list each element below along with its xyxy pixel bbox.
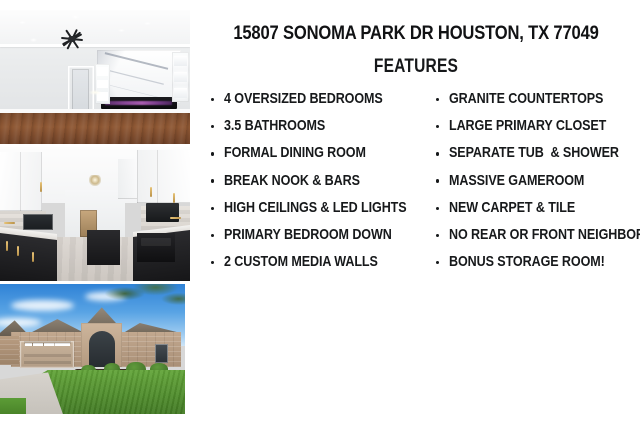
list-item: SEPARATE TUB & SHOWER (431, 140, 640, 167)
feature-label: SEPARATE TUB & SHOWER (449, 140, 619, 167)
cabinet-handle-icon (173, 193, 175, 203)
feature-label: BONUS STORAGE ROOM! (449, 249, 605, 276)
list-item: LARGE PRIMARY CLOSET (431, 113, 640, 140)
list-item: NO REAR OR FRONT NEIGHBORS (431, 222, 640, 249)
cloud (0, 318, 41, 327)
living-room-scene (0, 10, 190, 144)
pendant-light (89, 175, 101, 186)
range-oven (137, 233, 175, 262)
features-heading: FEATURES (232, 56, 599, 78)
recessed-light (144, 22, 151, 25)
list-item: MASSIVE GAMEROOM (431, 168, 640, 195)
feature-label: NEW CARPET & TILE (449, 195, 575, 222)
kitchen-scene (0, 147, 190, 281)
exterior-scene (0, 284, 185, 414)
list-item: 4 OVERSIZED BEDROOMS (206, 86, 419, 113)
front-window (155, 344, 168, 364)
feature-label: FORMAL DINING ROOM (224, 140, 366, 167)
exterior-front-photo[interactable] (0, 284, 185, 414)
front-door (89, 331, 115, 367)
linear-fireplace (101, 97, 177, 109)
recessed-light (19, 21, 26, 24)
feature-label: BREAK NOOK & BARS (224, 168, 360, 195)
list-item: BREAK NOOK & BARS (206, 168, 419, 195)
feature-label: 2 CUSTOM MEDIA WALLS (224, 249, 378, 276)
list-item: FORMAL DINING ROOM (206, 140, 419, 167)
upper-cabinet-right-2 (118, 159, 137, 199)
interior-door (72, 69, 89, 113)
list-item: 3.5 BATHROOMS (206, 113, 419, 140)
list-item: GRANITE COUNTERTOPS (431, 86, 640, 113)
brick-facade-left (0, 336, 19, 365)
base-cabinet-left (0, 233, 57, 281)
feature-label: PRIMARY BEDROOM DOWN (224, 222, 392, 249)
feature-label: NO REAR OR FRONT NEIGHBORS (449, 222, 640, 249)
feature-label: LARGE PRIMARY CLOSET (449, 113, 606, 140)
cabinet-handle-icon (32, 252, 34, 262)
page-title: 15807 SONOMA PARK DR HOUSTON, TX 77049 (226, 22, 607, 45)
living-room-photo[interactable] (0, 10, 190, 144)
cabinet-handle-icon (40, 182, 42, 192)
upper-cabinet-right (137, 150, 190, 204)
kitchen-island (87, 230, 119, 265)
cabinet-handle-icon (17, 246, 19, 256)
kitchen-window (23, 214, 53, 230)
list-item: 2 CUSTOM MEDIA WALLS (206, 249, 419, 276)
list-item: NEW CARPET & TILE (431, 195, 640, 222)
feature-label: HIGH CEILINGS & LED LIGHTS (224, 195, 407, 222)
cabinet-handle-icon (150, 187, 152, 197)
side-lawn (0, 398, 26, 414)
feature-label: 3.5 BATHROOMS (224, 113, 325, 140)
cabinet-handle-icon (4, 222, 15, 224)
lighted-niche (172, 52, 189, 103)
upper-cabinet-left (0, 152, 42, 211)
recessed-light (72, 15, 79, 18)
feature-label: MASSIVE GAMEROOM (449, 168, 584, 195)
feature-label: GRANITE COUNTERTOPS (449, 86, 603, 113)
microwave (146, 203, 178, 222)
kitchen-photo[interactable] (0, 147, 190, 281)
cloud (11, 300, 74, 312)
listing-info-panel: 15807 SONOMA PARK DR HOUSTON, TX 77049 F… (192, 0, 640, 426)
recessed-light (118, 29, 125, 32)
features-column-left: 4 OVERSIZED BEDROOMS 3.5 BATHROOMS FORMA… (206, 86, 419, 276)
tree-foliage (96, 284, 185, 320)
feature-list-left: 4 OVERSIZED BEDROOMS 3.5 BATHROOMS FORMA… (206, 86, 419, 276)
list-item: HIGH CEILINGS & LED LIGHTS (206, 195, 419, 222)
feature-list-right: GRANITE COUNTERTOPS LARGE PRIMARY CLOSET… (431, 86, 640, 276)
cabinet-handle-icon (170, 217, 181, 219)
list-item: BONUS STORAGE ROOM! (431, 249, 640, 276)
ceiling-fan-icon (49, 33, 95, 45)
features-column-right: GRANITE COUNTERTOPS LARGE PRIMARY CLOSET… (419, 86, 640, 276)
fan-light (89, 90, 101, 95)
hardwood-floor (0, 113, 190, 144)
feature-label: 4 OVERSIZED BEDROOMS (224, 86, 383, 113)
cabinet-handle-icon (6, 241, 8, 251)
garage-door (20, 341, 74, 368)
list-item: PRIMARY BEDROOM DOWN (206, 222, 419, 249)
lighted-panel (95, 64, 110, 104)
features-section: 4 OVERSIZED BEDROOMS 3.5 BATHROOMS FORMA… (206, 86, 632, 276)
recessed-light (30, 38, 37, 41)
photo-gallery (0, 0, 192, 426)
